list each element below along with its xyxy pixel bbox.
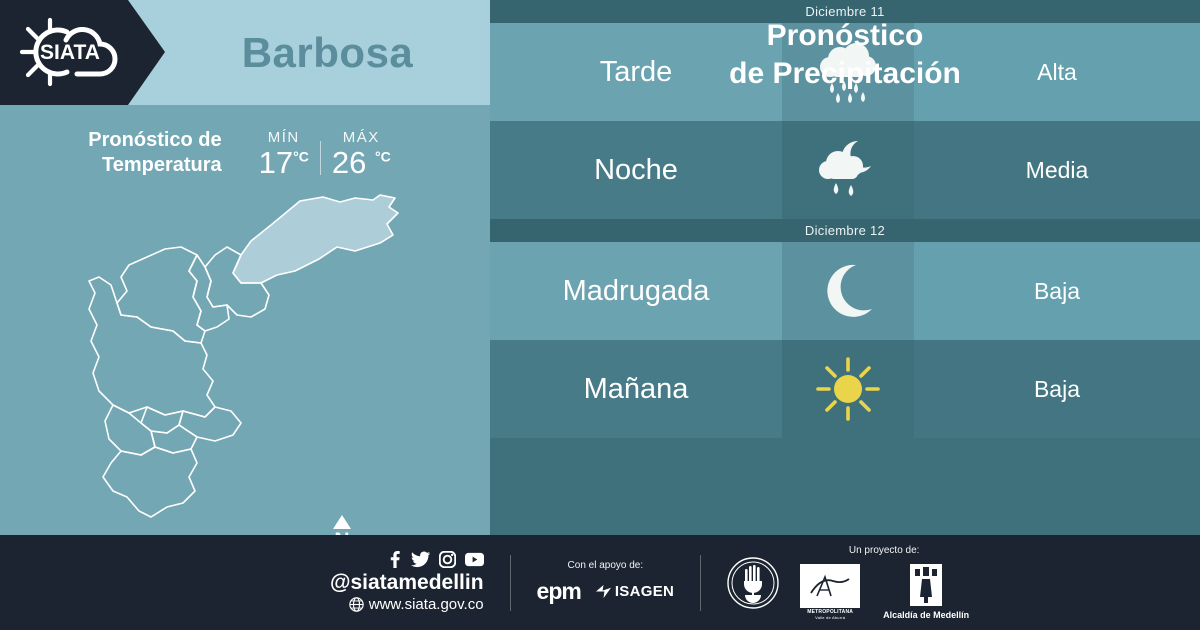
isagen-logo: ISAGEN: [595, 583, 674, 600]
area-metropolitana-sublabel: Valle de Aburrá: [815, 615, 845, 620]
support-caption: Con el apoyo de:: [568, 560, 644, 571]
map-region-medellin: [89, 277, 215, 417]
isagen-mark-icon: [595, 584, 612, 599]
website-text: www.siata.gov.co: [369, 596, 484, 614]
social-block: @siatamedellin www.siata.gov.co: [330, 551, 484, 613]
compass-arrow-icon: [333, 515, 351, 529]
temperature-panel: SIATA Barbosa Pronóstico de Temperatura …: [0, 0, 490, 535]
aburra-valley-map[interactable]: N: [55, 185, 455, 535]
project-caption: Un proyecto de:: [849, 545, 920, 556]
temperature-title-line1: Pronóstico de: [88, 128, 221, 153]
project-logos: Un proyecto de: METROPOLITANA Valle de A…: [799, 545, 969, 620]
website-line[interactable]: www.siata.gov.co: [330, 596, 484, 614]
area-metropolitana-mark-icon: [799, 563, 861, 609]
social-handle[interactable]: @siatamedellin: [330, 571, 484, 595]
temperature-max: MÁX 26 °C: [321, 129, 402, 178]
temperature-title-line2: Temperatura: [88, 153, 221, 178]
precipitation-panel: Pronóstico de Precipitación Diciembre 11…: [490, 0, 1200, 535]
project-logo-row: METROPOLITANA Valle de Aburrá: [799, 563, 969, 620]
forecast-period-noche: Noche: [490, 121, 782, 219]
temperature-summary: Pronóstico de Temperatura MÍN 17°C MÁX 2…: [0, 118, 490, 188]
sun-cloud-icon: SIATA: [14, 12, 124, 92]
siata-logo-block[interactable]: SIATA: [0, 0, 165, 105]
temperature-title: Pronóstico de Temperatura: [88, 128, 221, 178]
globe-icon: [349, 597, 364, 612]
udea-seal-icon: [727, 557, 779, 609]
temperature-min: MÍN 17°C: [248, 129, 320, 178]
youtube-icon[interactable]: [465, 551, 484, 568]
temperature-values: MÍN 17°C MÁX 26 °C: [248, 129, 402, 178]
footer-divider-1: [510, 555, 511, 611]
forecast-probability-madrugada: Baja: [914, 242, 1200, 340]
map-region-barbosa: [233, 195, 398, 283]
forecast-row-noche[interactable]: Noche Media: [490, 121, 1200, 219]
map-region-copacabana: [189, 255, 229, 331]
temperature-max-value: 26 °C: [332, 147, 391, 178]
facebook-icon[interactable]: [387, 551, 402, 568]
date-band-dec-12: Diciembre 12: [490, 219, 1200, 242]
area-metropolitana-logo: METROPOLITANA Valle de Aburrá: [799, 563, 861, 620]
alcaldia-label: Alcaldía de Medellín: [883, 610, 969, 620]
moon-rain-cloud-icon: [782, 121, 914, 219]
isagen-text: ISAGEN: [615, 583, 674, 600]
forecast-row-madrugada[interactable]: Madrugada Baja: [490, 242, 1200, 340]
epm-logo: epm: [537, 578, 581, 605]
moon-icon: [782, 242, 914, 340]
support-logos: epm ISAGEN: [537, 578, 675, 605]
siata-logo-text: SIATA: [40, 41, 100, 64]
municipalities-map-svg: [55, 185, 455, 535]
map-region-envigado: [179, 407, 241, 441]
footer-divider-2: [700, 555, 701, 611]
forecast-probability-manana: Baja: [914, 340, 1200, 438]
forecast-title: Pronóstico de Precipitación: [490, 0, 1200, 110]
instagram-icon[interactable]: [439, 551, 456, 568]
forecast-title-line1: Pronóstico: [767, 17, 924, 55]
temperature-max-unit: °C: [375, 148, 391, 164]
temperature-min-label: MÍN: [268, 129, 300, 146]
sun-icon: [782, 340, 914, 438]
forecast-probability-noche: Media: [914, 121, 1200, 219]
twitter-icon[interactable]: [411, 551, 430, 568]
social-icons: [330, 551, 484, 568]
project-block: Un proyecto de: METROPOLITANA Valle de A…: [727, 545, 969, 620]
forecast-period-manana: Mañana: [490, 340, 782, 438]
forecast-period-madrugada: Madrugada: [490, 242, 782, 340]
temperature-min-unit: °C: [293, 148, 309, 164]
footer: @siatamedellin www.siata.gov.co Con el a…: [0, 535, 1200, 630]
city-header: SIATA Barbosa: [0, 0, 490, 105]
forecast-title-line2: de Precipitación: [729, 55, 961, 93]
city-name: Barbosa: [165, 0, 490, 105]
alcaldia-medellin-logo: Alcaldía de Medellín: [883, 563, 969, 620]
map-region-itagui: [141, 407, 183, 433]
temperature-min-value: 17°C: [259, 147, 309, 178]
alcaldia-mark-icon: [909, 563, 943, 607]
support-block: Con el apoyo de: epm ISAGEN: [537, 560, 675, 605]
infographic-root: SIATA Barbosa Pronóstico de Temperatura …: [0, 0, 1200, 630]
forecast-row-manana[interactable]: Mañana Baja: [490, 340, 1200, 438]
map-region-caldas: [103, 447, 197, 517]
temperature-max-label: MÁX: [343, 129, 380, 146]
